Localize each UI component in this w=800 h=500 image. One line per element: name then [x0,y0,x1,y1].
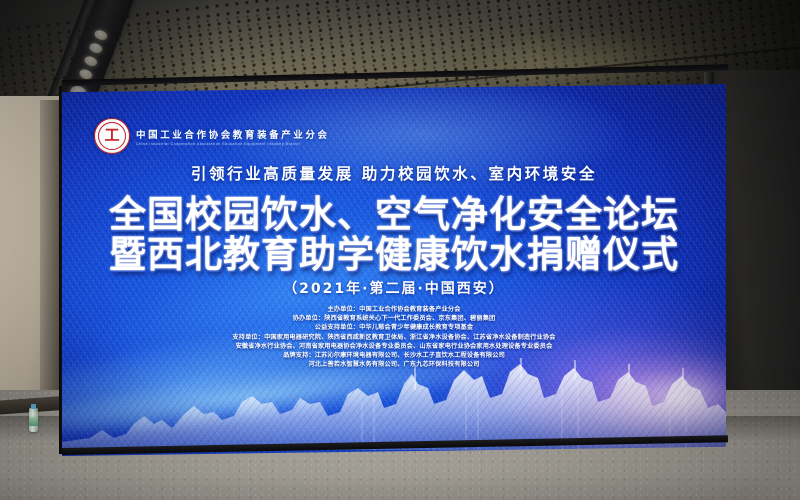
bottle-label [29,417,38,426]
association-emblem-icon: 工 [94,118,130,154]
credit-line: 主办单位：中国工业合作协会教育装备产业分会 [327,306,460,314]
credit-line: 安徽省净水行业协会、河南省家用电器协会净水设备专业委员会、山东省家电行业协会家用… [236,343,553,351]
event-subtitle: 引领行业高质量发展 助力校园饮水、室内环境安全 [62,162,726,184]
organizer-credits: 主办单位：中国工业合作协会教育装备产业分会 协办单位：陕西省教育系统关心下一代工… [62,306,726,369]
conference-hall-photo: 工 中国工业合作协会教育装备产业分会 China Industrial Coop… [0,0,800,500]
association-name-cn: 中国工业合作协会教育装备产业分会 [136,127,330,141]
event-date-location: （2021年·第二届·中国西安） [62,278,726,298]
credit-line: 公益支持单位：中华儿慈会青少年健康成长教育专项基金 [315,324,473,332]
event-title-line-1: 全国校园饮水、空气净化安全论坛 [62,196,726,233]
credit-line: 河北上善若水智慧水务有限公司、广东九芯环保科技有限公司 [308,361,479,369]
credit-line: 品牌支持：江苏沁尔康环境电器有限公司、长沙水工子直饮水工程设备有限公司 [283,352,505,360]
association-name-en: China Industrial Cooperation Association… [136,142,330,146]
emblem-mark: 工 [104,129,119,144]
association-logo-text: 中国工业合作协会教育装备产业分会 China Industrial Cooper… [136,127,330,146]
association-logo: 工 中国工业合作协会教育装备产业分会 China Industrial Coop… [94,118,330,154]
event-title-line-2: 暨西北教育助学健康饮水捐赠仪式 [62,236,726,273]
water-bottle [29,408,38,432]
bottle-cap [31,404,36,409]
credit-line: 协办单位：陕西省教育系统关心下一代工作委员会、京东集团、碧丽集团 [293,315,496,323]
led-video-wall: 工 中国工业合作协会教育装备产业分会 China Industrial Coop… [62,84,726,456]
credit-line: 支持单位：中国家用电器研究院、陕西省西咸新区教育卫体局、浙江省净水设备协会、江苏… [232,334,555,342]
